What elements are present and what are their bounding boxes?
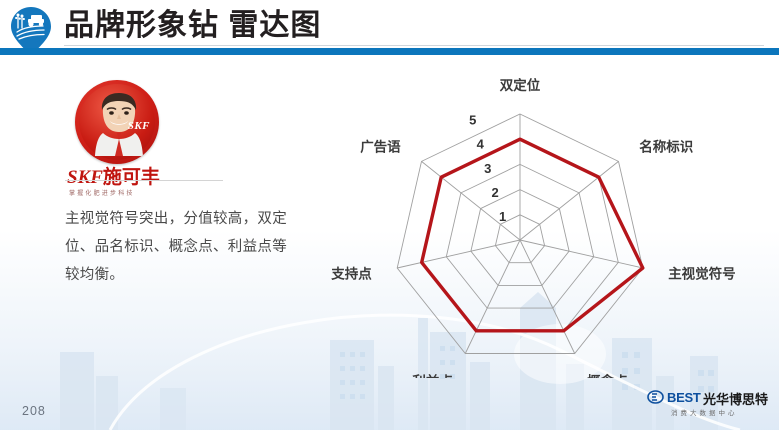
radar-axis-label-2: 主视觉符号 xyxy=(668,265,736,281)
radar-tick-4: 4 xyxy=(477,137,485,152)
radar-axis-label-6: 广告语 xyxy=(360,139,401,155)
radar-axis-label-0: 双定位 xyxy=(500,78,541,93)
brand-latin: SKF xyxy=(67,167,103,188)
radar-tick-1: 1 xyxy=(499,209,506,224)
radar-axis-labels: 双定位名称标识主视觉符号概念点利益点支持点广告语 xyxy=(330,78,735,378)
header-accent-bar xyxy=(0,48,779,55)
page-title: 品牌形象钻 雷达图 xyxy=(64,4,321,48)
footer-brand-latin: BEST xyxy=(667,390,700,405)
left-divider xyxy=(65,180,223,181)
skf-portrait-logo-icon: SKF xyxy=(75,80,159,164)
radar-axis-label-5: 支持点 xyxy=(330,265,372,281)
radar-spoke-3 xyxy=(520,240,575,354)
left-panel: SKF SKF施可丰 掌握化肥进步科技 主视觉符号突出，分值较高，双定位、品名标… xyxy=(55,80,305,185)
slide-header: 品牌形象钻 雷达图 xyxy=(0,0,779,56)
brand-wordmark: SKF施可丰 xyxy=(67,168,183,190)
radar-axis-label-1: 名称标识 xyxy=(639,139,693,155)
brand-tagline: 掌握化肥进步科技 xyxy=(69,188,181,197)
page-number: 208 xyxy=(22,404,46,418)
radar-tick-3: 3 xyxy=(484,161,491,176)
footer-brand-sub: 消费大数据中心 xyxy=(671,407,738,417)
radar-tick-2: 2 xyxy=(491,185,498,200)
radar-chart: 12345 双定位名称标识主视觉符号概念点利益点支持点广告语 xyxy=(330,78,775,378)
radar-spoke-4 xyxy=(465,240,520,354)
footer-brand-cn: 光华博思特 xyxy=(703,389,768,408)
logo-skf-mark: SKF xyxy=(128,120,150,132)
skf-logo-block: SKF SKF施可丰 掌握化肥进步科技 xyxy=(67,80,187,185)
radar-axis-label-3: 概念点 xyxy=(587,373,628,378)
radar-spokes xyxy=(397,114,643,354)
footer-brand-logo: BEST 光华博思特 消费大数据中心 xyxy=(645,388,767,422)
brand-cn: 施可丰 xyxy=(103,167,160,188)
radar-tick-5: 5 xyxy=(469,113,476,128)
slide-root: 品牌形象钻 雷达图 SKF xyxy=(0,0,779,430)
best-ring-icon xyxy=(647,390,664,404)
radar-axis-label-4: 利益点 xyxy=(412,373,453,378)
description-text: 主视觉符号突出，分值较高，双定位、品名标识、概念点、利益点等较均衡。 xyxy=(65,205,300,289)
